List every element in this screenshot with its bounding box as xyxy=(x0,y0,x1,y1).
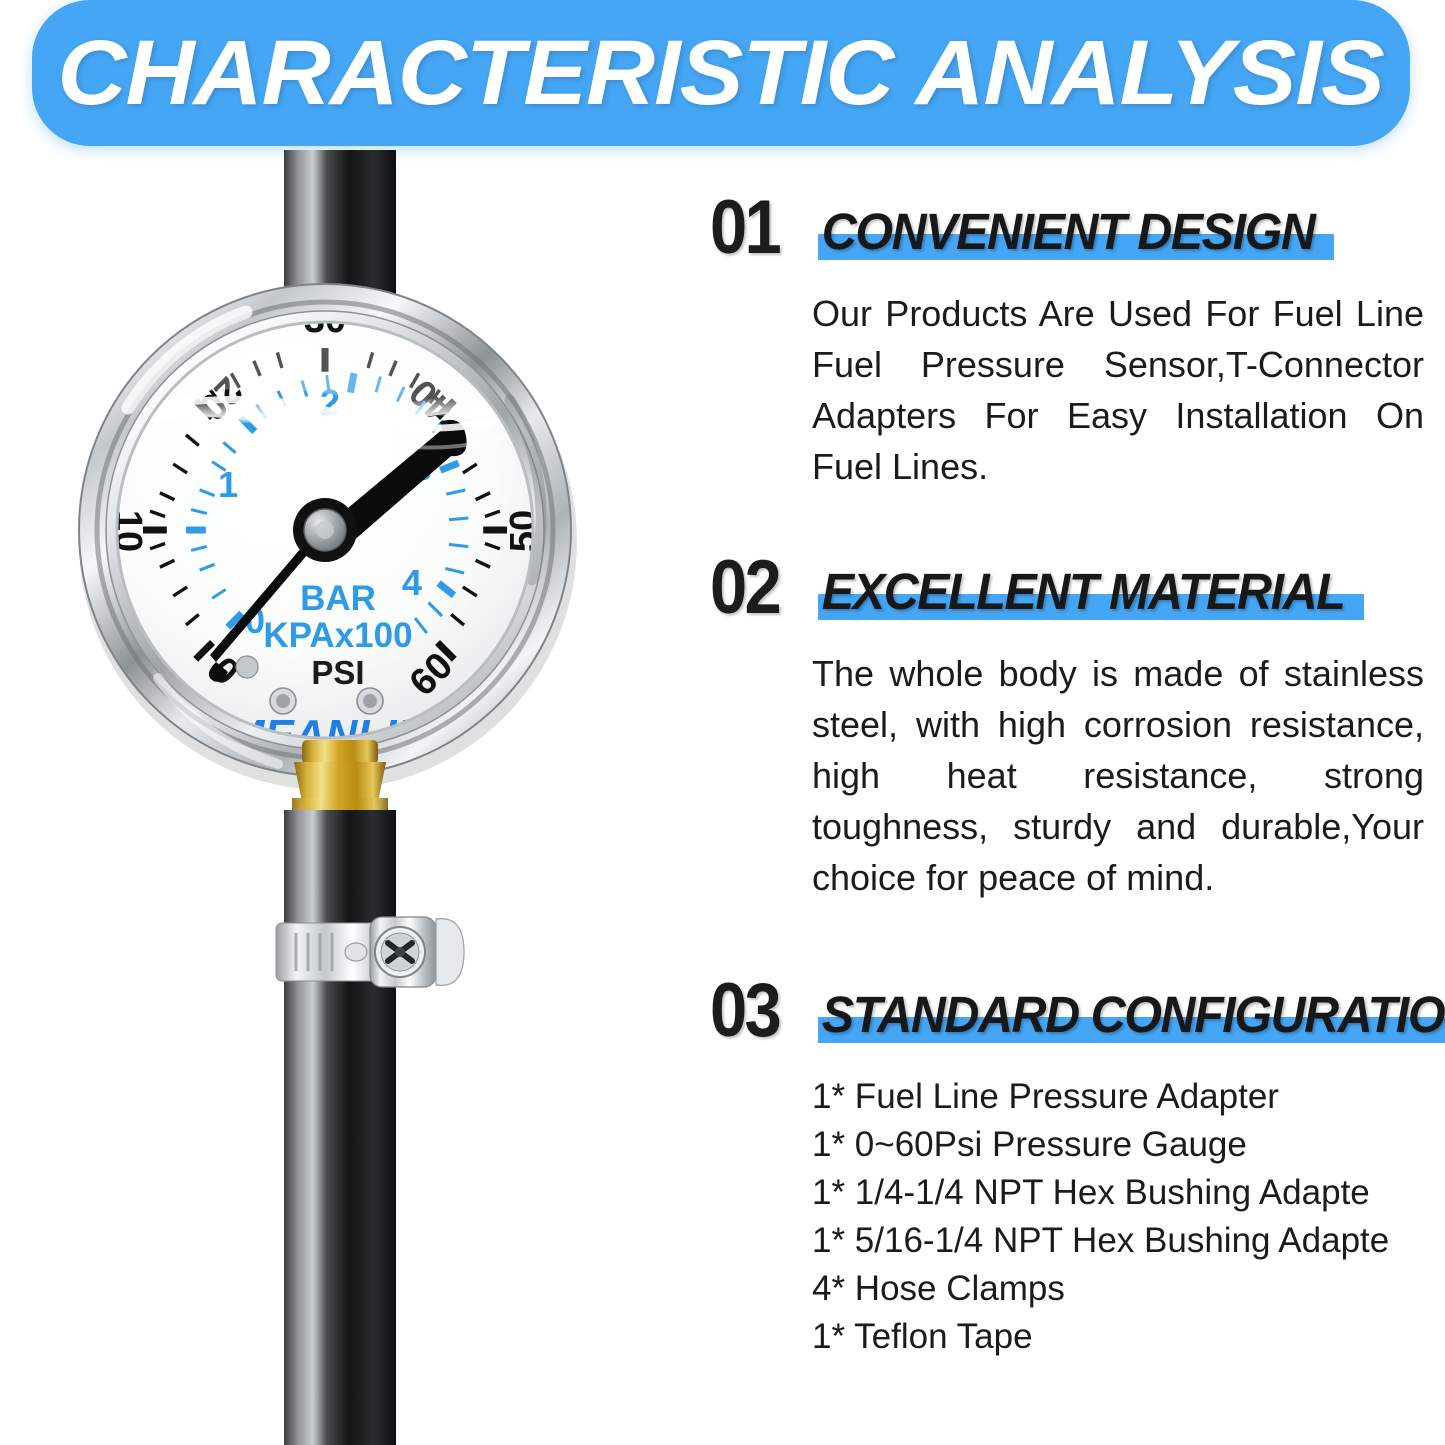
header-banner: CHARACTERISTIC ANALYSIS xyxy=(32,0,1410,146)
list-item: 1* 5/16-1/4 NPT Hex Bushing Adapte xyxy=(812,1217,1430,1265)
svg-text:KPAx100: KPAx100 xyxy=(263,616,412,655)
svg-text:1: 1 xyxy=(218,464,238,505)
list-item: 1* 0~60Psi Pressure Gauge xyxy=(812,1121,1430,1169)
section-body: The whole body is made of stainless stee… xyxy=(706,648,1430,904)
section-header: 01 CONVENIENT DESIGN xyxy=(706,196,1430,274)
brass-fitting-bottom xyxy=(292,740,388,822)
section-title: EXCELLENT MATERIAL xyxy=(818,562,1350,622)
section-title: CONVENIENT DESIGN xyxy=(818,202,1320,262)
section-body: Our Products Are Used For Fuel Line Fuel… xyxy=(706,288,1430,492)
svg-text:4: 4 xyxy=(402,562,422,603)
list-item: 1* 1/4-1/4 NPT Hex Bushing Adapte xyxy=(812,1169,1430,1217)
list-item: 1* Teflon Tape xyxy=(812,1313,1430,1361)
section-header: 02 EXCELLENT MATERIAL xyxy=(706,556,1430,634)
feature-section-02: 02 EXCELLENT MATERIAL The whole body is … xyxy=(706,556,1430,904)
section-header: 03 STANDARD CONFIGURATION xyxy=(706,979,1430,1057)
page-title: CHARACTERISTIC ANALYSIS xyxy=(58,27,1384,119)
configuration-list: 1* Fuel Line Pressure Adapter1* 0~60Psi … xyxy=(706,1073,1430,1361)
list-item: 1* Fuel Line Pressure Adapter xyxy=(812,1073,1430,1121)
section-number: 01 xyxy=(710,190,779,266)
section-body-text: The whole body is made of stainless stee… xyxy=(812,648,1424,904)
feature-section-01: 01 CONVENIENT DESIGN Our Products Are Us… xyxy=(706,196,1430,492)
product-image: 0 10 20 30 40 50 60 xyxy=(40,150,700,1445)
pressure-gauge: 0 10 20 30 40 50 60 xyxy=(79,284,577,790)
section-title-wrap: CONVENIENT DESIGN xyxy=(818,202,1347,262)
section-title-wrap: STANDARD CONFIGURATION xyxy=(818,985,1445,1045)
section-title-wrap: EXCELLENT MATERIAL xyxy=(818,562,1378,622)
svg-text:PSI: PSI xyxy=(311,654,364,691)
feature-section-03: 03 STANDARD CONFIGURATION 1* Fuel Line P… xyxy=(706,979,1430,1396)
section-number: 02 xyxy=(710,550,779,626)
section-body-text: Our Products Are Used For Fuel Line Fuel… xyxy=(812,288,1424,492)
section-title: STANDARD CONFIGURATION xyxy=(818,985,1445,1045)
hose-clamp-bottom xyxy=(276,917,464,987)
product-illustration: 0 10 20 30 40 50 60 xyxy=(40,150,700,1445)
list-item: 4* Hose Clamps xyxy=(812,1265,1430,1313)
hose-bottom xyxy=(284,810,396,1445)
svg-text:BAR: BAR xyxy=(300,579,376,618)
feature-list: 01 CONVENIENT DESIGN Our Products Are Us… xyxy=(706,196,1430,1436)
section-number: 03 xyxy=(710,973,779,1049)
